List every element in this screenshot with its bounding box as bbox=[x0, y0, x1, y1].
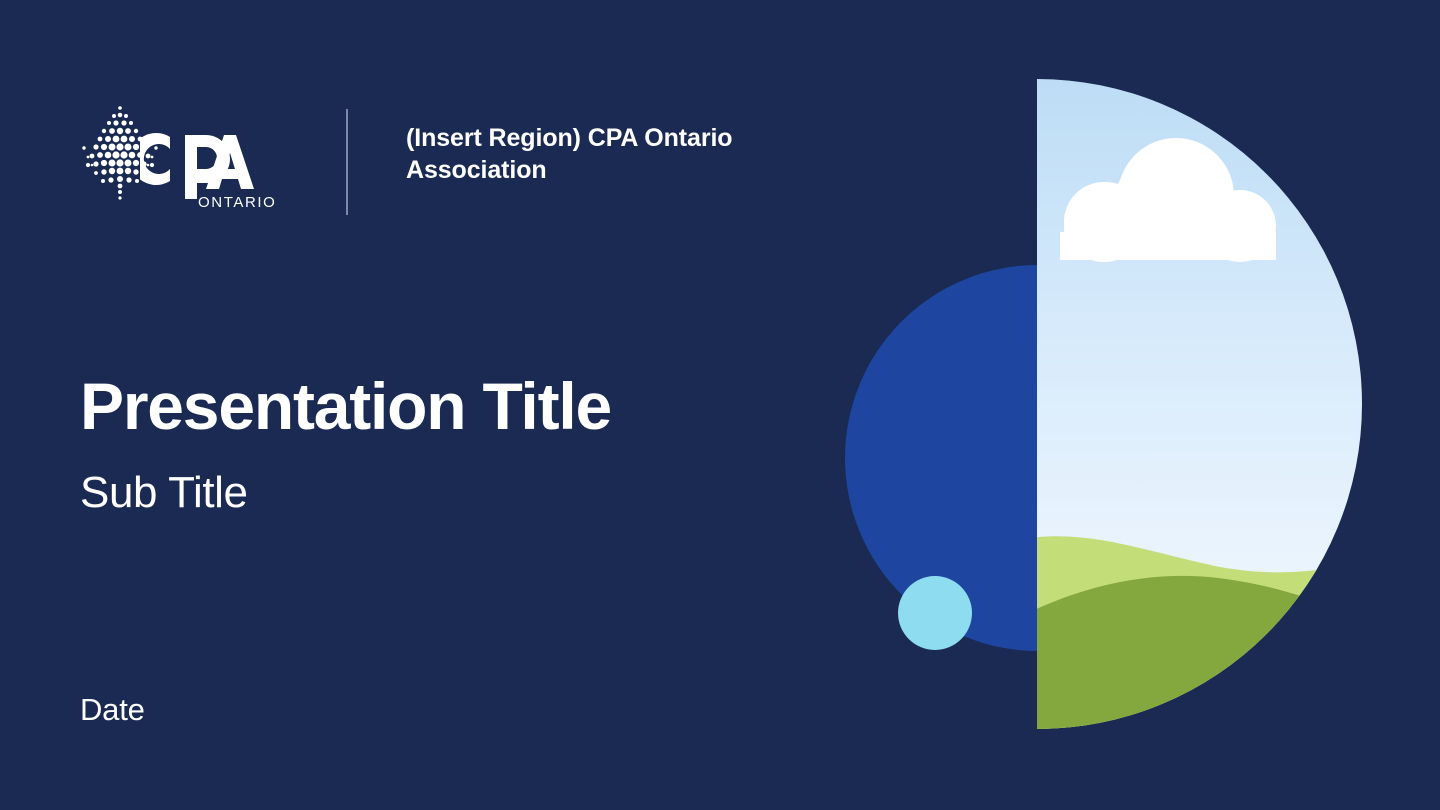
cpa-wordmark: ONTARIO bbox=[140, 129, 286, 211]
half-disc-landscape bbox=[1030, 70, 1380, 745]
logo-lockup: ONTARIO (Insert Region) CPA Ontario Asso… bbox=[78, 103, 826, 215]
dark-hill bbox=[1030, 576, 1380, 745]
date-label: Date bbox=[80, 692, 145, 728]
medium-blue-circle bbox=[845, 265, 1231, 651]
page-title: Presentation Title bbox=[80, 372, 840, 441]
cloud-icon bbox=[1060, 138, 1276, 262]
sky bbox=[1030, 70, 1375, 740]
light-blue-circle bbox=[898, 576, 972, 650]
page-subtitle: Sub Title bbox=[80, 469, 840, 517]
light-hill bbox=[1030, 536, 1380, 745]
presentation-slide: ONTARIO (Insert Region) CPA Ontario Asso… bbox=[0, 0, 1440, 810]
lockup-divider bbox=[346, 109, 348, 215]
cpa-ontario-logo: ONTARIO bbox=[78, 103, 288, 215]
region-association-label: (Insert Region) CPA Ontario Association bbox=[406, 122, 826, 186]
title-block: Presentation Title Sub Title bbox=[80, 372, 840, 517]
ontario-wordmark-text: ONTARIO bbox=[198, 194, 276, 211]
